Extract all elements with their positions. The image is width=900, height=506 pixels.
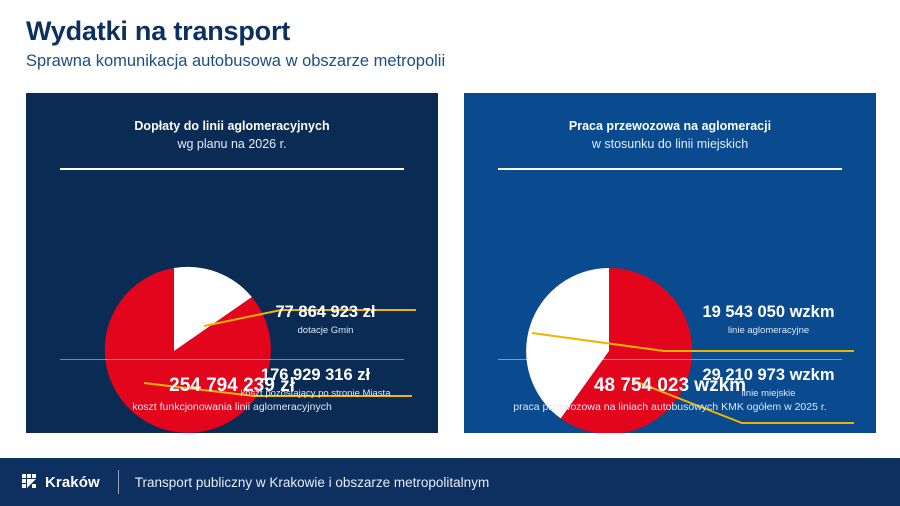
panel-right-bottom-divider: [498, 359, 842, 360]
total-description: praca przewozowa na liniach autobusowych…: [464, 401, 876, 415]
footer-tagline: Transport publiczny w Krakowie i obszarz…: [135, 475, 489, 490]
panel-subsidies: Dopłaty do linii aglomeracyjnych wg plan…: [26, 93, 438, 433]
page-header: Wydatki na transport Sprawna komunikacja…: [26, 16, 876, 72]
callout-description: dotacje Gmin: [218, 325, 433, 337]
callout-gmina-subsidy: 77 864 923 zł dotacje Gmin: [218, 303, 433, 337]
krakow-logo-text: Kraków: [45, 474, 100, 491]
total-subsidies: 254 794 239 zł koszt funkcjonowania lini…: [26, 375, 438, 414]
total-transport-work: 48 754 023 wzkm praca przewozowa na lini…: [464, 375, 876, 414]
panel-left-bottom-divider: [60, 359, 404, 360]
page-subtitle: Sprawna komunikacja autobusowa w obszarz…: [26, 51, 876, 72]
page-title: Wydatki na transport: [26, 16, 876, 47]
krakow-logo-icon: [22, 474, 38, 490]
callout-description: linie aglomeracyjne: [661, 325, 876, 337]
total-description: koszt funkcjonowania linii aglomeracyjny…: [26, 401, 438, 415]
panel-transport-work: Praca przewozowa na aglomeracji w stosun…: [464, 93, 876, 433]
total-value: 48 754 023 wzkm: [464, 375, 876, 398]
callout-value: 77 864 923 zł: [218, 303, 433, 323]
callout-value: 19 543 050 wzkm: [661, 303, 876, 323]
callout-agglomeration-lines: 19 543 050 wzkm linie aglomeracyjne: [661, 303, 876, 337]
total-value: 254 794 239 zł: [26, 375, 438, 398]
footer-divider: [118, 470, 119, 494]
page-footer: Kraków Transport publiczny w Krakowie i …: [0, 458, 900, 506]
